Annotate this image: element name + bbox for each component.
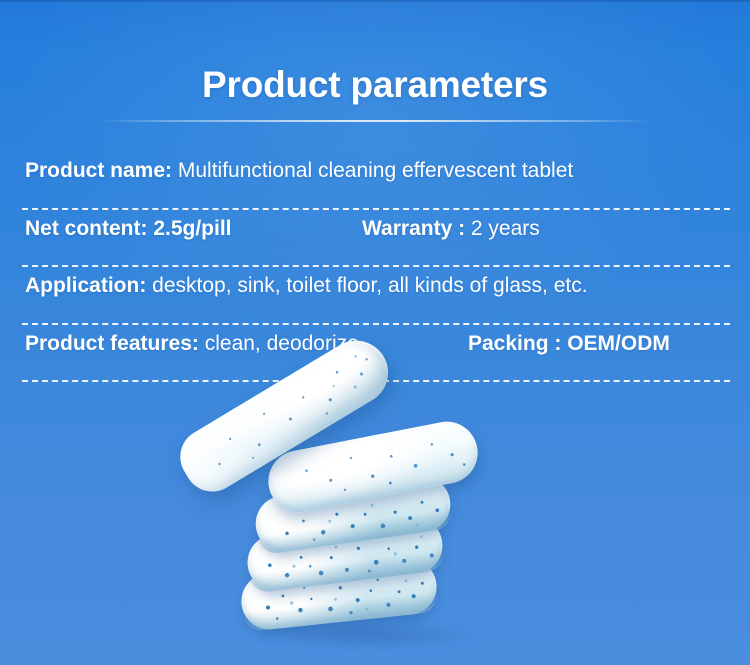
product-parameters-poster: Product parameters Product name: Multifu… (0, 0, 750, 665)
spec-value-text: desktop, sink, toilet floor, all kinds o… (152, 274, 587, 297)
spec-text: Product features: clean, deodorize (25, 329, 359, 359)
spec-label: Application: (25, 274, 146, 297)
spec-text: Product name: Multifunctional cleaning e… (25, 156, 573, 186)
spec-label: Product name: (25, 159, 172, 182)
product-photo (185, 398, 575, 665)
spec-label: Net content: 2.5g/pill (25, 217, 232, 240)
spec-label-secondary: Packing : (468, 332, 561, 355)
spec-text-secondary: Warranty : 2 years (362, 214, 540, 244)
spec-value-secondary: OEM/ODM (567, 332, 670, 355)
spec-text: Application: desktop, sink, toilet floor… (25, 271, 588, 301)
spec-value-text: Multifunctional cleaning effervescent ta… (178, 159, 573, 182)
spec-label-secondary: Warranty : (362, 217, 465, 240)
spec-value-secondary: 2 years (471, 217, 540, 240)
spec-text: Net content: 2.5g/pill (25, 214, 232, 244)
background-top-edge (0, 0, 750, 3)
spec-row-application: Application: desktop, sink, toilet floor… (22, 267, 730, 325)
spec-text-secondary: Packing : OEM/ODM (468, 329, 670, 359)
spec-label: Product features: (25, 332, 199, 355)
spec-row-product-name: Product name: Multifunctional cleaning e… (22, 152, 730, 210)
page-title: Product parameters (0, 63, 750, 107)
title-underline-divider (100, 120, 650, 122)
spec-row-net-content: Net content: 2.5g/pill Warranty : 2 year… (22, 210, 730, 268)
